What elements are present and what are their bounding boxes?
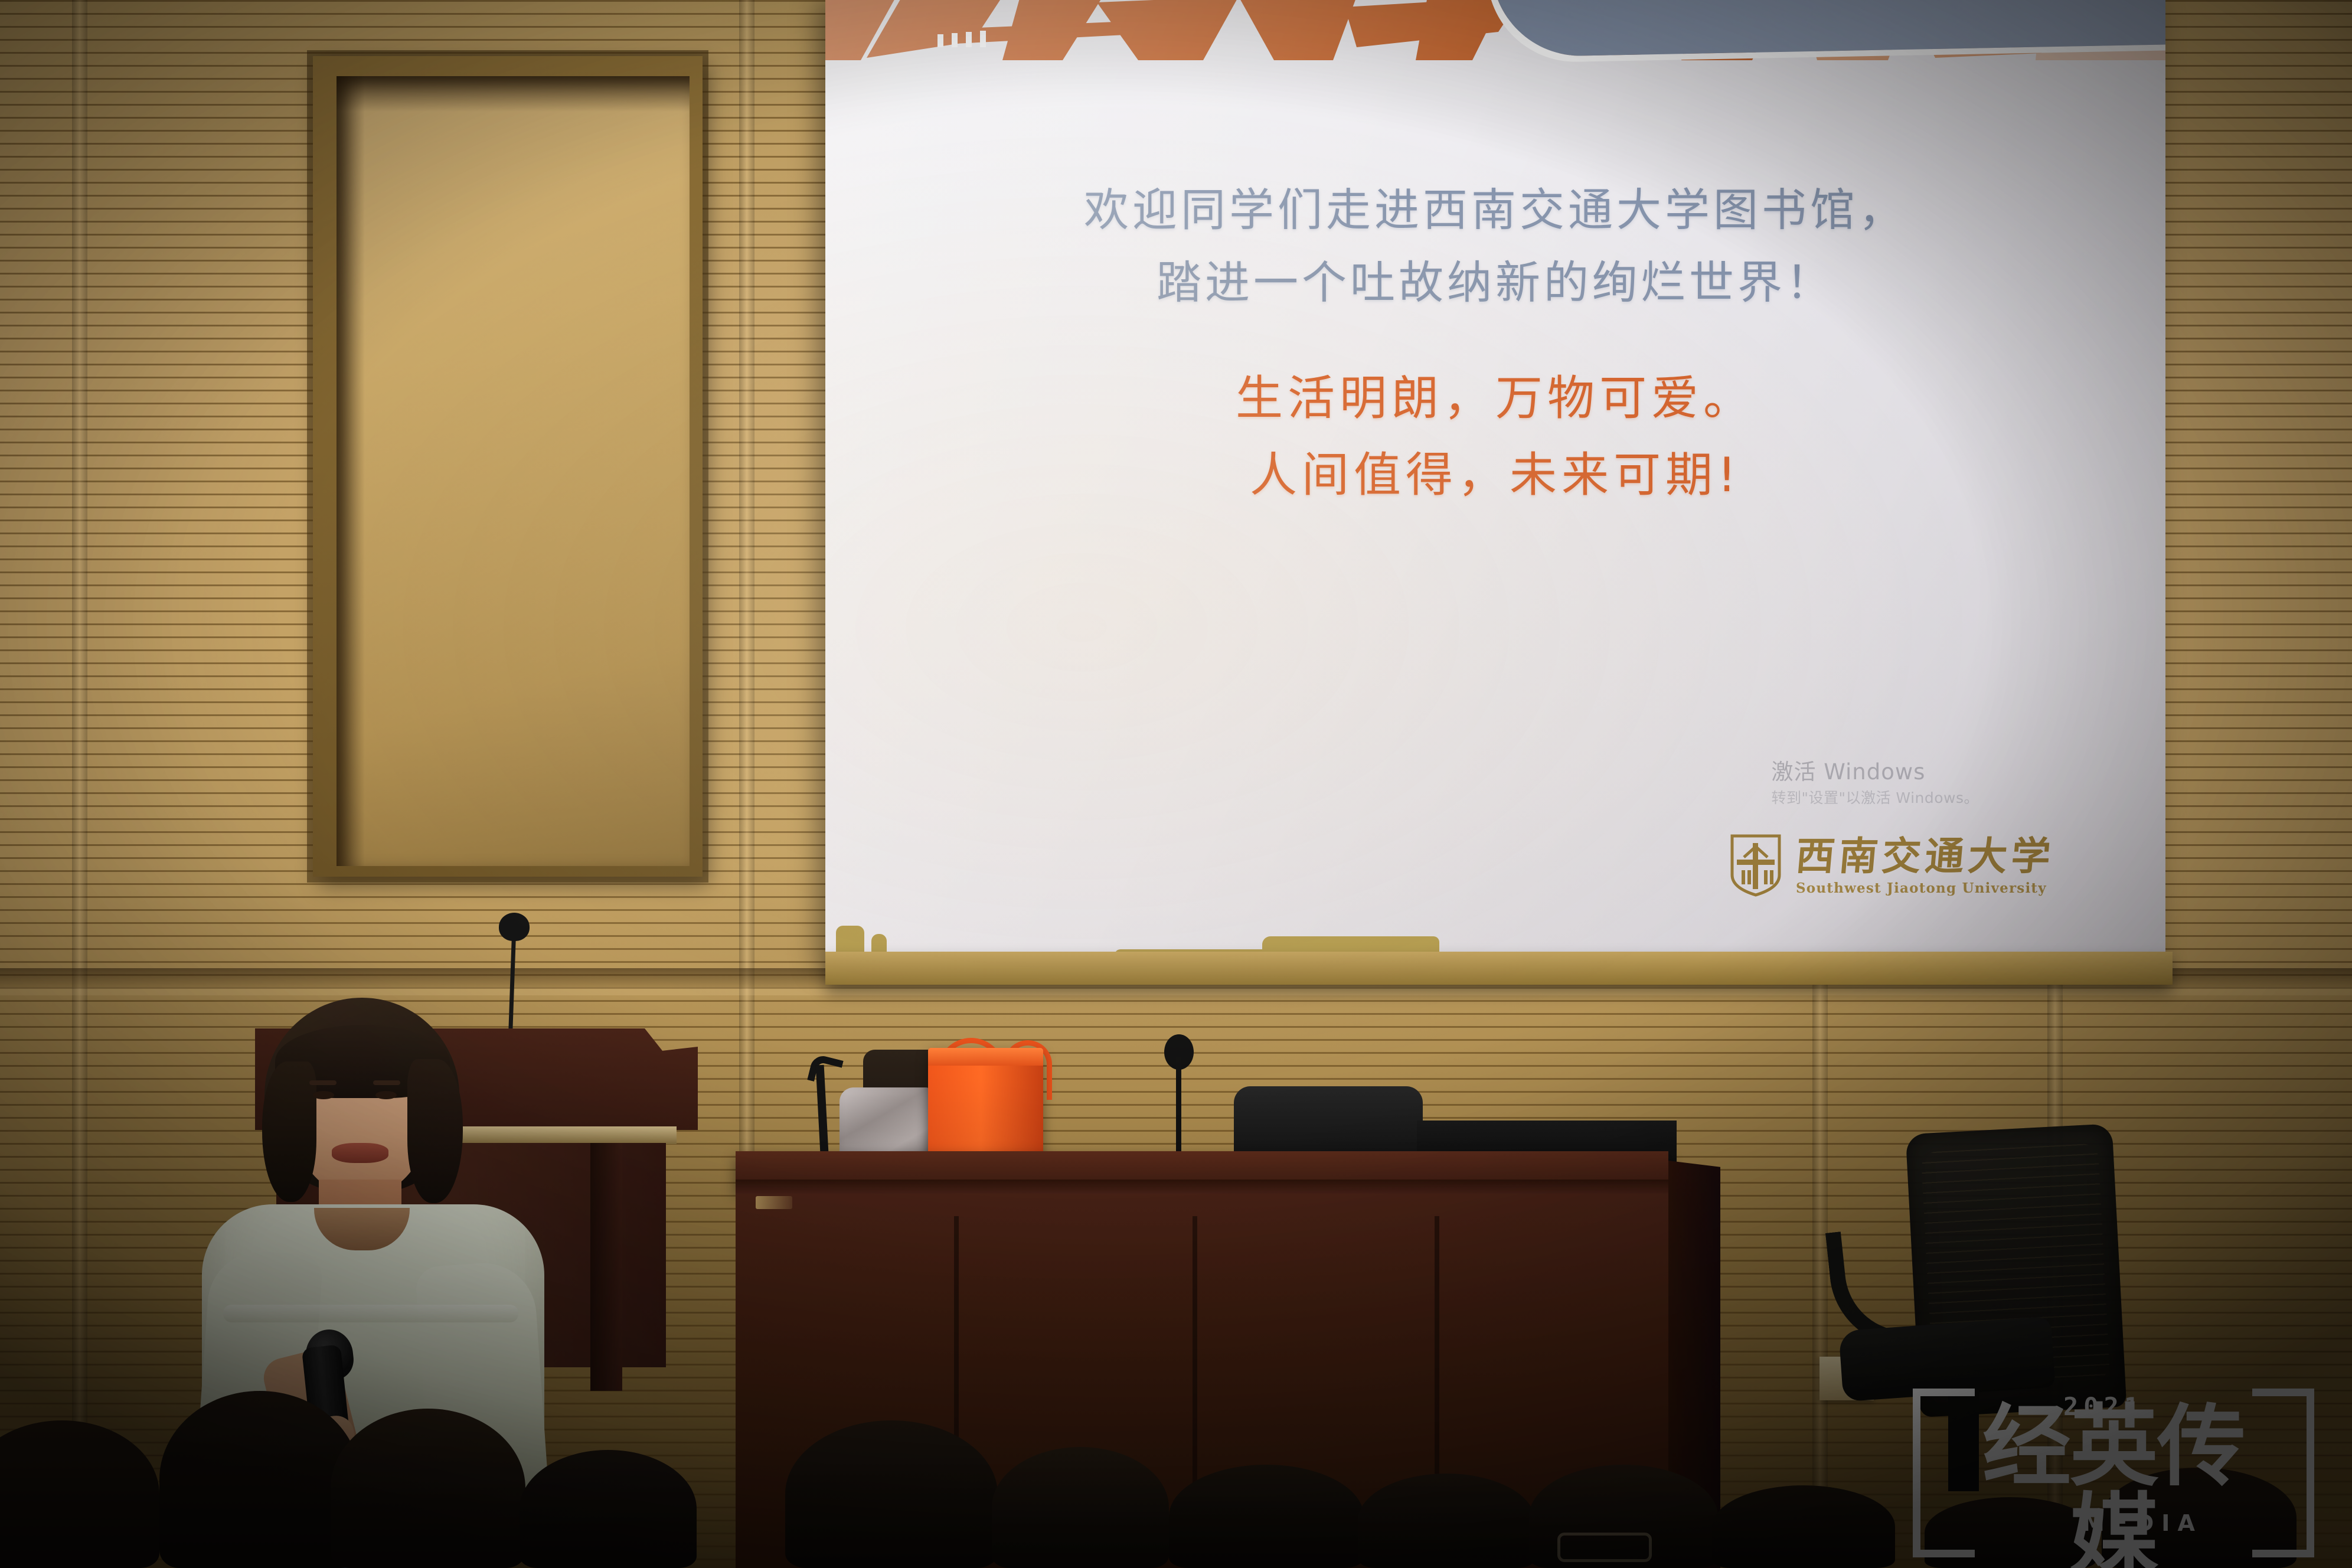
university-name: 西南交通大学 Southwest Jiaotong University xyxy=(1796,837,2054,895)
audience-glasses-icon xyxy=(1557,1533,1652,1562)
speaker-eye xyxy=(375,1091,397,1099)
panel-shadow-left xyxy=(337,76,365,866)
lectern-mic-head-icon xyxy=(499,913,530,941)
slide-line-3: 生活明朗，万物可爱。 xyxy=(825,360,2165,437)
watermark-text-en: MEDIA xyxy=(2082,1510,2203,1536)
speaker-mouth xyxy=(332,1143,388,1163)
speaker-eye xyxy=(313,1091,334,1099)
audience-head xyxy=(331,1409,525,1568)
table-brand-plate xyxy=(756,1196,792,1209)
slide-line-4: 人间值得，未来可期! xyxy=(825,437,2165,514)
university-name-en: Southwest Jiaotong University xyxy=(1796,881,2054,895)
slide-text-block: 欢迎同学们走进西南交通大学图书馆， 踏进一个吐故纳新的绚烂世界！ 生活明朗，万物… xyxy=(825,174,2165,513)
orange-tote-bag-top xyxy=(928,1048,1043,1066)
university-name-cn: 西南交通大学 xyxy=(1794,837,2056,876)
lectern-stem xyxy=(590,1143,622,1391)
speaker-eyebrow xyxy=(373,1080,400,1085)
audience-head xyxy=(992,1447,1169,1568)
slide-line-gap xyxy=(825,319,2165,360)
audience-head xyxy=(520,1450,697,1568)
audience-head xyxy=(785,1420,998,1568)
wall-panel-frame xyxy=(313,56,703,877)
media-watermark: 经英传媒 2021 MEDIA xyxy=(1913,1389,2314,1542)
screen-bottom-casing xyxy=(825,952,2173,985)
speaker-blouse-ruffle xyxy=(223,1305,518,1322)
wall-panel-inner xyxy=(337,76,690,866)
wall-rail-highlight xyxy=(0,987,2352,995)
activation-title: 激活 Windows xyxy=(1771,759,1979,785)
audience-head xyxy=(1169,1465,1364,1568)
slide-surface: 欢迎同学们走进西南交通大学图书馆， 踏进一个吐故纳新的绚烂世界！ 生活明朗，万物… xyxy=(825,0,2165,965)
table-mic-stand xyxy=(1176,1057,1181,1162)
speaker-hair-right xyxy=(407,1059,463,1203)
university-logo: 西南交通大学 Southwest Jiaotong University xyxy=(1729,834,2054,897)
activation-subtitle: 转到"设置"以激活 Windows。 xyxy=(1771,788,1979,808)
watermark-text-cn: 经英传媒 xyxy=(1958,1403,2269,1568)
panel-shadow-top xyxy=(337,76,690,112)
photo-canvas: 欢迎同学们走进西南交通大学图书馆， 踏进一个吐故纳新的绚烂世界！ 生活明朗，万物… xyxy=(0,0,2352,1568)
speaker-hair-left xyxy=(262,1061,316,1202)
windows-activation-watermark: 激活 Windows 转到"设置"以激活 Windows。 xyxy=(1771,759,1979,808)
audience-head xyxy=(1712,1485,1895,1568)
speaker-eyebrow xyxy=(309,1080,337,1085)
projection-screen: 欢迎同学们走进西南交通大学图书馆， 踏进一个吐故纳新的绚烂世界！ 生活明朗，万物… xyxy=(825,0,2165,965)
audience-head xyxy=(1358,1474,1535,1568)
slide-line-1: 欢迎同学们走进西南交通大学图书馆， xyxy=(825,174,2165,246)
crest-shield-icon xyxy=(1729,834,1783,897)
wall-seam xyxy=(72,0,87,1568)
watermark-year: 2021 xyxy=(2063,1392,2144,1421)
slide-line-2: 踏进一个吐故纳新的绚烂世界！ xyxy=(825,246,2165,319)
audience-head xyxy=(159,1391,360,1568)
